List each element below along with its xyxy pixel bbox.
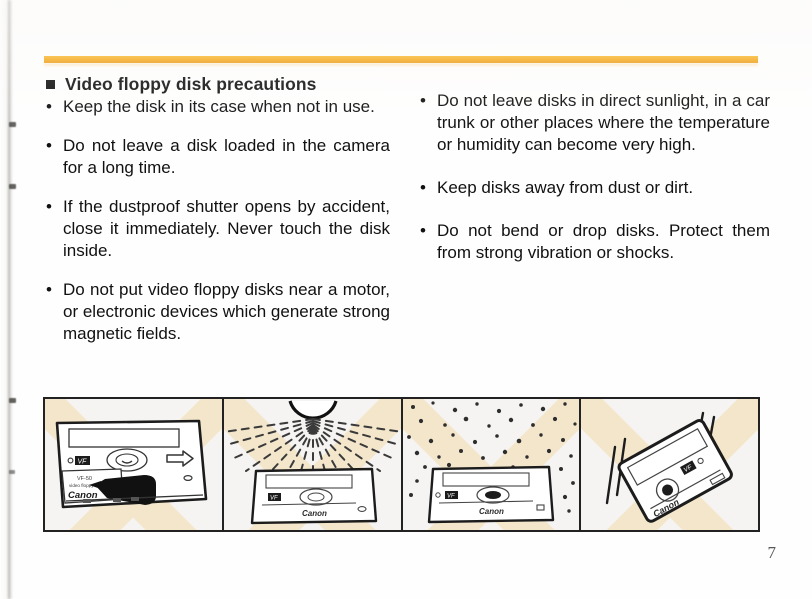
scan-speck [9, 398, 16, 403]
accent-rule-shadow [44, 63, 758, 66]
illustration-panel-bend-or-drop: VF Canon [581, 399, 758, 530]
list-item-text: Do not leave a disk loaded in the camera… [63, 135, 390, 179]
svg-text:VF-50: VF-50 [77, 476, 92, 482]
illustration-panel-dustproof-shutter-open: VF VF-50 video floppy disk Canon [45, 399, 224, 530]
list-item: • Do not leave a disk loaded in the came… [46, 135, 390, 179]
scan-speck [9, 122, 16, 127]
section-heading-label: Video floppy disk precautions [65, 74, 317, 94]
illustration-panel-direct-sunlight: VF Canon [224, 399, 403, 530]
square-bullet-icon [46, 80, 55, 89]
bullet-dot-icon: • [46, 196, 63, 218]
list-item-text: Do not leave disks in direct sunlight, i… [437, 90, 770, 156]
list-item-text: Do not bend or drop disks. Protect them … [437, 220, 770, 264]
sunlight-on-disk-icon: VF Canon [224, 399, 402, 530]
left-text-column: Video floppy disk precautions • Keep the… [46, 74, 390, 361]
list-item: • Keep the disk in its case when not in … [46, 96, 390, 118]
bullet-dot-icon: • [420, 220, 437, 242]
page-number: 7 [768, 543, 777, 563]
bullet-dot-icon: • [420, 90, 437, 112]
svg-text:Canon: Canon [302, 509, 327, 518]
right-text-column: • Do not leave disks in direct sunlight,… [420, 90, 770, 281]
scan-speck [9, 184, 16, 189]
bullet-dot-icon: • [46, 279, 63, 301]
accent-rule [44, 56, 758, 63]
illustration-strip: VF VF-50 video floppy disk Canon [43, 397, 760, 532]
list-item-text: If the dustproof shutter opens by accide… [63, 196, 390, 262]
dust-particles-on-disk-icon: VF Canon [403, 399, 581, 530]
bullet-dot-icon: • [46, 96, 63, 118]
section-heading: Video floppy disk precautions [46, 74, 390, 94]
svg-text:VF: VF [447, 494, 455, 500]
list-item-text: Keep the disk in its case when not in us… [63, 96, 390, 118]
bullet-dot-icon: • [46, 135, 63, 157]
list-item-text: Do not put video floppy disks near a mot… [63, 279, 390, 345]
list-item: • If the dustproof shutter opens by acci… [46, 196, 390, 262]
manual-page: Video floppy disk precautions • Keep the… [0, 0, 812, 599]
dropping-disk-icon: VF Canon [581, 399, 758, 530]
list-item: • Do not put video floppy disks near a m… [46, 279, 390, 345]
svg-text:Canon: Canon [479, 507, 504, 516]
floppy-disk-shutter-open-icon: VF VF-50 video floppy disk Canon [49, 415, 214, 520]
scan-binding-edge [8, 0, 12, 599]
svg-text:VF: VF [78, 459, 88, 466]
list-item: • Do not leave disks in direct sunlight,… [420, 90, 770, 156]
bullet-dot-icon: • [420, 177, 437, 199]
list-item: • Keep disks away from dust or dirt. [420, 177, 770, 199]
scan-speck [9, 470, 15, 474]
list-item: • Do not bend or drop disks. Protect the… [420, 220, 770, 264]
svg-text:VF: VF [270, 496, 278, 502]
illustration-panel-dust-and-dirt: VF Canon [403, 399, 582, 530]
list-item-text: Keep disks away from dust or dirt. [437, 177, 770, 199]
